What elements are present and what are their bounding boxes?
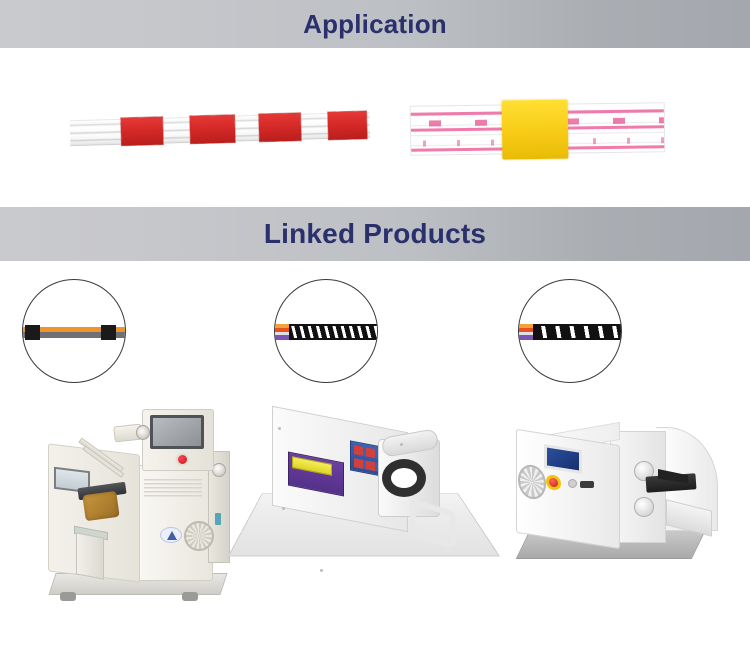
spiral-tape-wrap [533,324,622,340]
tape-block-right [101,325,116,340]
application-images-row [0,48,750,207]
wire-spiral-illustration [274,324,378,340]
linked-products-grid [0,261,750,669]
application-image-wire-harness [70,100,370,158]
adjust-knob [212,463,226,477]
indicator-strip [215,513,221,525]
linked-product-card-1[interactable] [0,261,250,669]
yellow-tape-wrap [502,100,569,160]
product-photo-taping-machine-2[interactable] [260,409,472,599]
linked-product-card-3[interactable] [500,261,750,669]
red-tape-wrap [121,117,164,146]
section-header-application: Application [0,0,750,48]
red-tape-wrap [190,115,236,144]
feed-roller [634,497,654,517]
product-photo-taping-machine-1[interactable] [32,401,240,601]
tape-roll [382,459,426,497]
machine-display-screen [150,415,204,449]
wire-spiral-tape-wide-diagram-icon [518,279,622,383]
printed-straw-ribbon [410,102,666,156]
product-photo-taping-machine-3[interactable] [506,413,728,593]
emergency-stop-button [176,453,189,466]
work-tray [76,532,104,579]
wire-illustration [22,327,126,338]
product-detail-page: Application Linked Products [0,0,750,669]
section-header-linked-products: Linked Products [0,207,750,261]
wire-harness-illustration [70,112,371,146]
tape-block-left [25,325,40,340]
panel-screw [282,507,285,510]
brand-logo [160,527,182,543]
linked-product-card-2[interactable] [250,261,500,669]
page-title-application: Application [303,11,447,37]
brass-mechanism [82,491,119,521]
page-title-linked-products: Linked Products [264,220,486,248]
machine-foot [182,592,198,601]
control-switch [580,481,594,488]
application-image-printed-straws [410,96,665,162]
panel-screw [278,427,281,430]
control-button [568,479,577,488]
machine-foot [60,592,76,601]
wire-spiral-illustration [518,324,622,340]
wire-spiral-tape-narrow-diagram-icon [274,279,378,383]
tape-reel-hub [136,425,150,440]
red-tape-wrap [259,113,302,142]
panel-screw [400,443,403,446]
spiral-tape-wrap [289,324,378,340]
machine-vent-slots [144,479,202,497]
red-tape-wrap [328,111,368,140]
fan-wheel [184,521,214,551]
panel-screw [320,569,323,572]
wire-end-tape-diagram-icon [22,279,126,383]
